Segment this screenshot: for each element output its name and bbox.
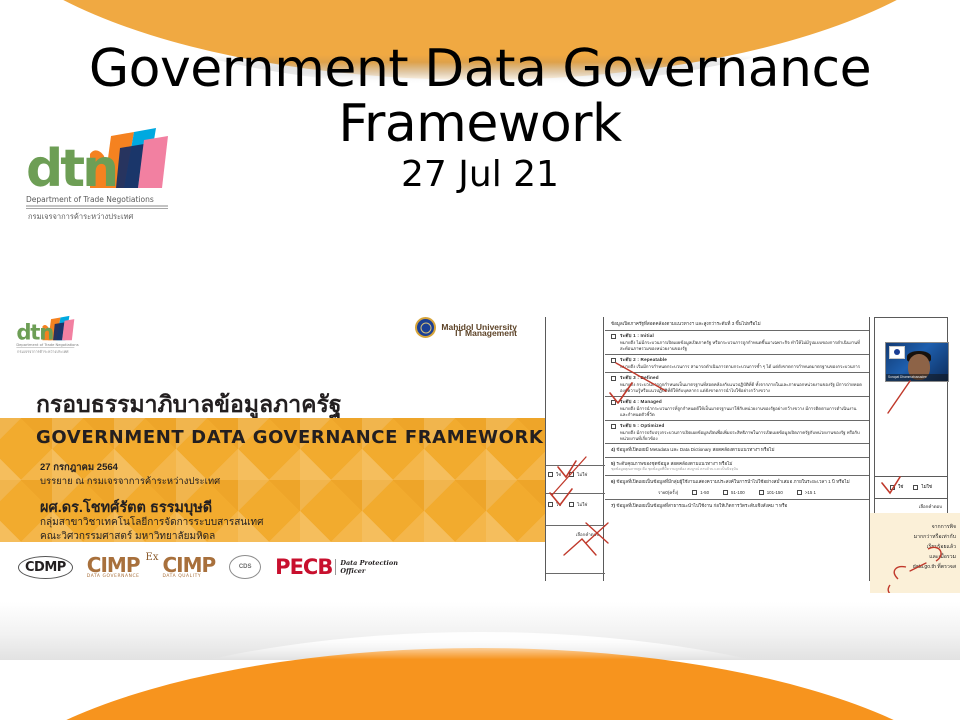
q4-no-label: ไม่ใช่ (577, 471, 587, 478)
level-row-5[interactable]: ระดับ 5 : Optimized หมายถึง มีการปรับปรุ… (605, 420, 869, 444)
note-card: จากการพิจ มากกว่าหรือเท่ากับ เรียบร้อยแล… (870, 513, 960, 593)
level-1-checkbox[interactable] (611, 334, 616, 339)
video-caption: Sorapat Dhammabussadee (886, 374, 948, 381)
scale-option-2-checkbox[interactable] (723, 490, 728, 495)
q5-yes-checkbox[interactable] (548, 502, 553, 507)
level-row-3[interactable]: ระดับ 3 : Defined หมายถึง กระบวนการถูกกำ… (605, 372, 869, 396)
q5-no-checkbox[interactable] (569, 502, 574, 507)
q4-yes-label: ใช่ (556, 471, 561, 478)
level-5-title: ระดับ 5 : Optimized (620, 423, 665, 428)
pecb-logo: PECB (275, 557, 332, 578)
questionnaire-answer-column: ใช่ ไม่ใช่ ใช่ ไม่ใช่ (546, 317, 604, 581)
right-no-label: ไม่ใช่ (921, 484, 932, 491)
right-yes-label: ใช่ (898, 484, 903, 491)
q5-no-label: ไม่ใช่ (577, 501, 587, 508)
questionnaire-document: ใช่ ไม่ใช่ ใช่ ไม่ใช่ (545, 317, 870, 581)
question-6-text: ข้อมูลที่เปิดเผยเป็นข้อมูลที่มีกลุ่มผู้ใ… (616, 479, 849, 484)
q6-choose-hint: เลือกคำตอบ (576, 531, 599, 538)
pecb-sub: Data Protection Officer (335, 559, 398, 575)
deck-affiliation-2: คณะวิศวกรรมศาสตร์ มหาวิทยาลัยมหิดล (40, 529, 215, 542)
dtn-name-en: Department of Trade Negotiations (26, 195, 154, 204)
question-6-row: 6) ข้อมูลที่เปิดเผยเป็นข้อมูลที่มีกลุ่มผ… (605, 475, 869, 499)
dtn-logo-graphic: dtn Department of Trade Negotiations กรม… (16, 126, 196, 224)
q5-answer-row[interactable]: ใช่ ไม่ใช่ (548, 501, 587, 508)
q4-yes-checkbox[interactable] (548, 472, 553, 477)
note-line-5: data.go.th ที่ตรวจส (874, 563, 956, 573)
question-6-scale[interactable]: ราย0(ครั้ง) 1-50 51-100 101-150 (611, 490, 863, 496)
question-6-scale-label: ราย0(ครั้ง) (658, 490, 678, 496)
level-3-title: ระดับ 3 : Defined (620, 375, 659, 380)
scale-option-4-checkbox[interactable] (797, 490, 802, 495)
question-6-number: 6) (611, 479, 615, 484)
right-yes-option[interactable]: ใช่ (890, 484, 903, 491)
deck-orange-banner: GOVERNMENT DATA GOVERNANCE FRAMEWORK 27 … (0, 418, 545, 542)
question-5-text: ระดับคุณภาพของชุดข้อมูล สอดคล้องตามแนวทา… (616, 461, 732, 466)
right-column: Sorapat Dhammabussadee ใช่ ไม่ใช่ เลือกค… (870, 317, 960, 593)
scale-option-3[interactable]: 101-150 (759, 490, 783, 496)
level-2-checkbox[interactable] (611, 358, 616, 363)
q4-answer-row[interactable]: ใช่ ไม่ใช่ (548, 471, 587, 478)
level-4-body: หมายถึง มีการนำกระบวนการที่ถูกกำหนดดีให้… (620, 406, 863, 418)
scale-option-4[interactable]: >15 1 (797, 490, 816, 496)
level-row-1[interactable]: ระดับ 1 : Initial หมายถึง ไม่มีกระบวนการ… (605, 330, 869, 354)
question-5-subtext: ชุดข้อมูลคุณภาพสูง คือ ชุดข้อมูลที่มีควา… (611, 467, 863, 472)
cimp-governance-logo: CIMP DATA GOVERNANCE (87, 555, 140, 579)
questionnaire-header-text: ข้อมูลเปิดภาครัฐที่สอดคล้องตามแนวทางฯ แล… (605, 317, 869, 330)
scale-option-2-label: 51-100 (731, 490, 745, 496)
deck-affiliation-1: กลุ่มสาขาวิชาเทคโนโลยีการจัดการระบบสารสน… (40, 515, 264, 530)
note-line-4: และเมื่อรวม (874, 553, 956, 563)
scale-option-3-label: 101-150 (767, 490, 783, 496)
svg-text:dtn: dtn (16, 320, 53, 345)
level-5-checkbox[interactable] (611, 424, 616, 429)
right-choose-hint: เลือกคำตอบ (919, 504, 942, 509)
scale-option-4-label: >15 1 (805, 490, 816, 496)
right-answer-row[interactable]: ใช่ ไม่ใช่ (874, 477, 948, 499)
question-7-row: 7) ข้อมูลที่เปิดเผยเป็นข้อมูลที่สาธารณะน… (605, 499, 869, 512)
level-3-checkbox[interactable] (611, 376, 616, 381)
scale-option-3-checkbox[interactable] (759, 490, 764, 495)
question-4-text: ข้อมูลที่เปิดเผยมี Metadata และ Data Dic… (616, 447, 774, 452)
bottom-orange-band (0, 648, 960, 720)
scale-option-1-checkbox[interactable] (692, 490, 697, 495)
q4-no-checkbox[interactable] (569, 472, 574, 477)
svg-text:Department of Trade Negotiatio: Department of Trade Negotiations (16, 343, 78, 347)
level-2-title: ระดับ 2 : Repeatable (620, 357, 667, 362)
cdmp-logo: CDMP (18, 556, 73, 579)
svg-text:dtn: dtn (26, 139, 116, 199)
slide-canvas: Government Data Governance Framework 27 … (0, 0, 960, 720)
certification-logos: CDMP CIMP DATA GOVERNANCE Ex CIMP DATA Q… (18, 550, 418, 584)
level-1-body: หมายถึง ไม่มีกระบวนการเปิดเผยข้อมูลเปิดภ… (620, 340, 863, 352)
right-no-option[interactable]: ไม่ใช่ (913, 484, 932, 491)
scale-option-2[interactable]: 51-100 (723, 490, 745, 496)
q5-no-option[interactable]: ไม่ใช่ (569, 501, 587, 508)
dtn-name-th: กรมเจรจาการค้าระหว่างประเทศ (28, 212, 134, 221)
cimp-quality-logo: CIMP DATA QUALITY (162, 555, 215, 579)
right-no-checkbox[interactable] (913, 485, 918, 490)
deck-venue: บรรยาย ณ กรมเจรจาการค้าระหว่างประเทศ (40, 474, 220, 489)
level-row-4[interactable]: ระดับ 4 : Managed หมายถึง มีการนำกระบวนก… (605, 396, 869, 420)
question-5-number: 5) (611, 461, 615, 466)
q4-yes-option[interactable]: ใช่ (548, 471, 561, 478)
right-yes-checkbox[interactable] (890, 485, 895, 490)
embedded-screenshot: dtn Department of Trade Negotiations กรม… (0, 305, 960, 593)
cimp-governance-sub: DATA GOVERNANCE (87, 575, 140, 579)
cds-logo: CDS (229, 555, 261, 579)
deck-date: 27 กรกฎาคม 2564 (40, 460, 118, 475)
level-row-2[interactable]: ระดับ 2 : Repeatable หมายถึง เริ่มมีการก… (605, 354, 869, 372)
note-line-3: เรียบร้อยแล้ว (874, 543, 956, 553)
level-1-title: ระดับ 1 : Initial (620, 333, 654, 338)
deck-dtn-logo: dtn Department of Trade Negotiations กรม… (12, 315, 86, 355)
question-7-text: ข้อมูลที่เปิดเผยเป็นข้อมูลที่สาธารณะนำไป… (616, 503, 787, 508)
deck-slide-panel: dtn Department of Trade Negotiations กรม… (0, 305, 545, 593)
level-5-body: หมายถึง มีการปรับปรุงกระบวนการเปิดเผยข้อ… (620, 430, 863, 442)
question-4-number: 4) (611, 447, 615, 452)
mahidol-line-2-wrap: IT Management (429, 328, 517, 338)
level-2-body: หมายถึง เริ่มมีการกำหนดกระบวนการ สามารถด… (620, 364, 860, 370)
mahidol-line-2: IT Management (455, 328, 517, 338)
q5-yes-option[interactable]: ใช่ (548, 501, 561, 508)
level-4-checkbox[interactable] (611, 400, 616, 405)
level-3-body: หมายถึง กระบวนการถูกกำหนดเป็นมาตรฐานที่ส… (620, 382, 863, 394)
scale-option-1-label: 1-50 (700, 490, 709, 496)
question-4-row: 4) ข้อมูลที่เปิดเผยมี Metadata และ Data … (605, 443, 869, 456)
question-7-number: 7) (611, 503, 615, 508)
video-thumbnail[interactable]: Sorapat Dhammabussadee (885, 342, 949, 382)
note-line-1: จากการพิจ (874, 523, 956, 533)
video-badge-icon (889, 346, 905, 359)
dtn-logo: dtn Department of Trade Negotiations กรม… (16, 126, 196, 224)
svg-text:กรมเจรจาการค้าระหว่างประเทศ: กรมเจรจาการค้าระหว่างประเทศ (17, 349, 69, 354)
video-frame-box: Sorapat Dhammabussadee (874, 317, 948, 477)
scale-option-1[interactable]: 1-50 (692, 490, 709, 496)
note-line-2: มากกว่าหรือเท่ากับ (874, 533, 956, 543)
level-4-title: ระดับ 4 : Managed (620, 399, 662, 404)
questionnaire-rows: ข้อมูลเปิดภาครัฐที่สอดคล้องตามแนวทางฯ แล… (605, 317, 869, 581)
ex-superscript: Ex (146, 552, 159, 563)
q5-yes-label: ใช่ (556, 501, 561, 508)
q4-no-option[interactable]: ไม่ใช่ (569, 471, 587, 478)
deck-title-en: GOVERNMENT DATA GOVERNANCE FRAMEWORK (36, 427, 544, 448)
question-5-row: 5) ระดับคุณภาพของชุดข้อมูล สอดคล้องตามแน… (605, 457, 869, 475)
